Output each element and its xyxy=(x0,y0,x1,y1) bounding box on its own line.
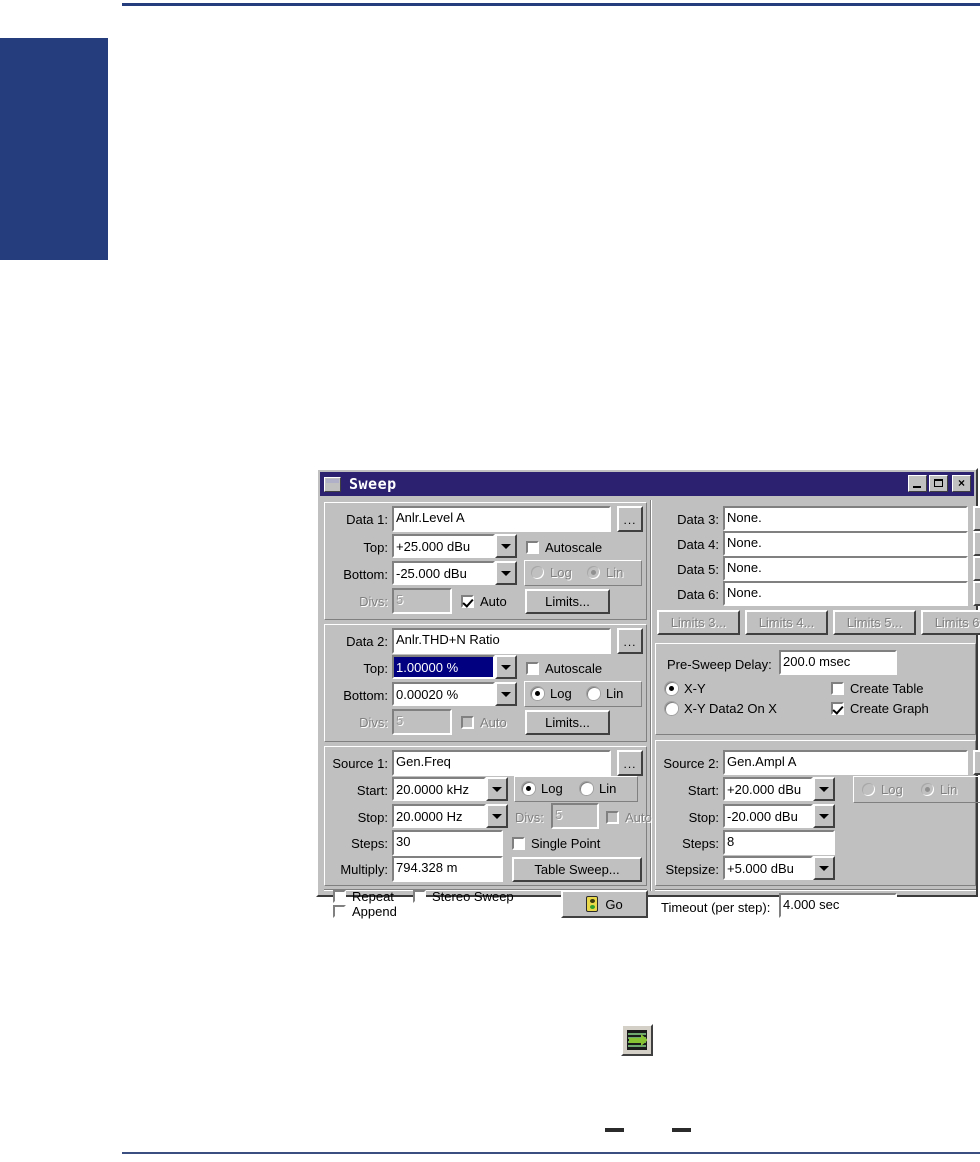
data2-autoscale-label: Autoscale xyxy=(545,661,602,676)
data2-log-radio[interactable]: Log xyxy=(531,686,572,701)
data2-bottom-label: Bottom: xyxy=(326,689,388,703)
source2-stepsize-label: Stepsize: xyxy=(653,863,719,877)
checkbox-box xyxy=(413,890,426,903)
chevron-down-icon[interactable] xyxy=(813,777,835,801)
data5-label: Data 5: xyxy=(653,563,719,577)
data3-input[interactable]: None. xyxy=(723,506,968,531)
page-mark-dash-1 xyxy=(605,1128,624,1132)
page-bottom-rule xyxy=(122,1152,980,1154)
create-table-checkbox[interactable]: Create Table xyxy=(831,681,923,696)
data1-top-value[interactable]: +25.000 dBu xyxy=(392,534,495,558)
pre-sweep-delay-input[interactable]: 200.0 msec xyxy=(779,650,897,675)
dialog-title: Sweep xyxy=(349,475,397,493)
data2-lin-label: Lin xyxy=(606,686,623,701)
data2-label: Data 2: xyxy=(330,635,388,649)
data2-top-label: Top: xyxy=(330,662,388,676)
data2-divs-label: Divs: xyxy=(336,716,388,730)
append-checkbox[interactable]: Append xyxy=(333,904,397,919)
data2-browse-button[interactable]: ... xyxy=(617,628,643,654)
data4-label: Data 4: xyxy=(653,538,719,552)
source1-log-label: Log xyxy=(541,781,563,796)
stereo-sweep-checkbox[interactable]: Stereo Sweep xyxy=(413,889,514,904)
traffic-light-icon xyxy=(586,896,598,912)
radio-dot xyxy=(587,566,600,579)
dialog-titlebar[interactable]: Sweep × xyxy=(320,472,974,496)
data2-top-combo[interactable]: 1.00000 % xyxy=(392,655,517,679)
limits6-button: Limits 6... xyxy=(921,610,980,635)
minimize-icon xyxy=(913,486,921,488)
radio-dot xyxy=(587,687,600,700)
data1-autoscale-checkbox[interactable]: Autoscale xyxy=(526,540,602,555)
data1-divs-label: Divs: xyxy=(336,595,388,609)
chevron-down-icon[interactable] xyxy=(495,561,517,585)
source1-multiply-input[interactable]: 794.328 m xyxy=(392,856,503,882)
data2-bottom-combo[interactable]: 0.00020 % xyxy=(392,682,517,706)
sweep-dialog: Sweep × Data 1: Anlr.Level A ... Top: +2… xyxy=(316,468,978,897)
panel-divider xyxy=(650,500,652,891)
radio-dot xyxy=(665,682,678,695)
source2-lin-label: Lin xyxy=(940,782,957,797)
source1-start-label: Start: xyxy=(328,784,388,798)
close-icon: × xyxy=(953,476,970,490)
data2-top-value[interactable]: 1.00000 % xyxy=(392,655,495,679)
data6-browse-button[interactable]: ... xyxy=(973,581,980,606)
radio-dot xyxy=(921,783,934,796)
source2-start-value[interactable]: +20.000 dBu xyxy=(723,777,813,801)
data1-browse-button[interactable]: ... xyxy=(617,506,643,532)
chevron-down-icon[interactable] xyxy=(495,682,517,706)
data2-input[interactable]: Anlr.THD+N Ratio xyxy=(392,628,611,654)
radio-dot xyxy=(522,782,535,795)
limits5-button: Limits 5... xyxy=(833,610,916,635)
source1-start-combo[interactable]: 20.0000 kHz xyxy=(392,777,508,801)
page-accent-block xyxy=(0,38,108,260)
data4-browse-button[interactable]: ... xyxy=(973,531,980,556)
source2-stepsize-value[interactable]: +5.000 dBu xyxy=(723,856,813,880)
page-marks xyxy=(0,1124,980,1138)
data1-limits-button[interactable]: Limits... xyxy=(525,589,610,614)
chevron-down-icon[interactable] xyxy=(486,777,508,801)
checkbox-box xyxy=(831,702,844,715)
data2-autoscale-checkbox[interactable]: Autoscale xyxy=(526,661,602,676)
checkbox-box xyxy=(526,662,539,675)
checkbox-box xyxy=(333,905,346,918)
close-button[interactable]: × xyxy=(952,475,971,492)
data1-label: Data 1: xyxy=(330,513,388,527)
data1-log-label: Log xyxy=(550,565,572,580)
data1-auto-label: Auto xyxy=(480,594,507,609)
data2-auto-label: Auto xyxy=(480,715,507,730)
minimize-button[interactable] xyxy=(908,475,927,492)
source2-start-combo[interactable]: +20.000 dBu xyxy=(723,777,835,801)
source2-input[interactable]: Gen.Ampl A xyxy=(723,750,968,775)
radio-dot xyxy=(531,687,544,700)
radio-dot xyxy=(531,566,544,579)
data1-top-combo[interactable]: +25.000 dBu xyxy=(392,534,517,558)
radio-dot xyxy=(580,782,593,795)
right-panel: Data 3: None. ... Data 4: None. ... Data… xyxy=(653,500,972,891)
create-graph-label: Create Graph xyxy=(850,701,929,716)
data2-bottom-value[interactable]: 0.00020 % xyxy=(392,682,495,706)
green-arrow-icon xyxy=(629,1038,642,1043)
source2-log-label: Log xyxy=(881,782,903,797)
source2-stop-value[interactable]: -20.000 dBu xyxy=(723,804,813,828)
data1-autoscale-label: Autoscale xyxy=(545,540,602,555)
source2-browse-button[interactable]: ... xyxy=(973,750,980,775)
source2-stop-combo[interactable]: -20.000 dBu xyxy=(723,804,835,828)
source1-log-radio[interactable]: Log xyxy=(522,781,563,796)
limits3-button: Limits 3... xyxy=(657,610,740,635)
source1-stop-value[interactable]: 20.0000 Hz xyxy=(392,804,486,828)
radio-dot xyxy=(665,702,678,715)
source2-stop-label: Stop: xyxy=(653,811,719,825)
data2-limits-button[interactable]: Limits... xyxy=(525,710,610,735)
xy-label: X-Y xyxy=(684,681,706,696)
window-system-icon[interactable] xyxy=(324,477,341,492)
data2-auto-checkbox: Auto xyxy=(461,715,507,730)
go-button-content: Go xyxy=(586,896,622,912)
data3-label: Data 3: xyxy=(653,513,719,527)
source1-start-value[interactable]: 20.0000 kHz xyxy=(392,777,486,801)
stereo-sweep-label: Stereo Sweep xyxy=(432,889,514,904)
window-controls: × xyxy=(908,475,971,492)
data1-lin-radio[interactable]: Lin xyxy=(587,565,623,580)
source2-start-label: Start: xyxy=(653,784,719,798)
checkbox-box xyxy=(512,837,525,850)
source2-steps-input[interactable]: 8 xyxy=(723,830,835,855)
page-canvas: Sweep × Data 1: Anlr.Level A ... Top: +2… xyxy=(0,0,980,1162)
append-label: Append xyxy=(352,904,397,919)
data6-label: Data 6: xyxy=(653,588,719,602)
data2-lin-radio[interactable]: Lin xyxy=(587,686,623,701)
light-green xyxy=(590,905,595,909)
timeout-label: Timeout (per step): xyxy=(661,901,770,915)
data1-lin-label: Lin xyxy=(606,565,623,580)
source1-stop-combo[interactable]: 20.0000 Hz xyxy=(392,804,508,828)
source1-divs-label: Divs: xyxy=(515,811,544,825)
source1-steps-input[interactable]: 30 xyxy=(392,830,503,856)
source1-multiply-label: Multiply: xyxy=(322,863,388,877)
go-button-label: Go xyxy=(605,897,622,912)
source1-lin-radio[interactable]: Lin xyxy=(580,781,616,796)
source1-stop-label: Stop: xyxy=(328,811,388,825)
source1-steps-label: Steps: xyxy=(328,837,388,851)
source1-single-point-label: Single Point xyxy=(531,836,600,851)
chevron-down-icon[interactable] xyxy=(813,804,835,828)
right-bottom-separator xyxy=(655,889,976,891)
data1-auto-checkbox[interactable]: Auto xyxy=(461,594,507,609)
checkbox-box xyxy=(831,682,844,695)
page-mark-dash-2 xyxy=(672,1128,691,1132)
repeat-label: Repeat xyxy=(352,889,394,904)
chevron-down-icon[interactable] xyxy=(486,804,508,828)
data1-bottom-combo[interactable]: -25.000 dBu xyxy=(392,561,517,585)
source1-label: Source 1: xyxy=(324,757,388,771)
source2-lin-radio: Lin xyxy=(921,782,957,797)
chevron-down-icon[interactable] xyxy=(495,534,517,558)
maximize-button[interactable] xyxy=(929,475,948,492)
icon-screen xyxy=(627,1030,647,1050)
data1-log-radio[interactable]: Log xyxy=(531,565,572,580)
radio-dot xyxy=(862,783,875,796)
data6-input[interactable]: None. xyxy=(723,581,968,606)
data5-browse-button[interactable]: ... xyxy=(973,556,980,581)
data2-log-label: Log xyxy=(550,686,572,701)
repeat-checkbox[interactable]: Repeat xyxy=(333,889,394,904)
chevron-down-icon[interactable] xyxy=(813,856,835,880)
chevron-down-icon[interactable] xyxy=(495,655,517,679)
source1-divs-input: 5 xyxy=(551,803,599,829)
source1-auto-checkbox: Auto xyxy=(606,810,652,825)
data1-bottom-label: Bottom: xyxy=(326,568,388,582)
limits4-button: Limits 4... xyxy=(745,610,828,635)
left-panel: Data 1: Anlr.Level A ... Top: +25.000 dB… xyxy=(322,500,649,891)
source1-auto-label: Auto xyxy=(625,810,652,825)
xy-data2-on-x-label: X-Y Data2 On X xyxy=(684,701,777,716)
go-button[interactable]: Go xyxy=(561,890,648,918)
data1-top-label: Top: xyxy=(330,541,388,555)
table-sweep-button[interactable]: Table Sweep... xyxy=(512,857,642,882)
create-graph-checkbox[interactable]: Create Graph xyxy=(831,701,929,716)
data3-browse-button[interactable]: ... xyxy=(973,506,980,531)
data1-divs-input: 5 xyxy=(392,588,452,614)
dialog-client: Data 1: Anlr.Level A ... Top: +25.000 dB… xyxy=(320,498,974,893)
maximize-icon xyxy=(934,479,943,487)
checkbox-box xyxy=(606,811,619,824)
data1-input[interactable]: Anlr.Level A xyxy=(392,506,611,532)
checkbox-box xyxy=(461,716,474,729)
source1-single-point-checkbox[interactable]: Single Point xyxy=(512,836,600,851)
data5-input[interactable]: None. xyxy=(723,556,968,581)
page-top-rule xyxy=(122,3,980,6)
source1-lin-label: Lin xyxy=(599,781,616,796)
source1-input[interactable]: Gen.Freq xyxy=(392,750,611,776)
data4-input[interactable]: None. xyxy=(723,531,968,556)
data1-bottom-value[interactable]: -25.000 dBu xyxy=(392,561,495,585)
checkbox-box xyxy=(333,890,346,903)
source2-label: Source 2: xyxy=(653,757,719,771)
sweep-toolbar-icon xyxy=(621,1024,653,1056)
source2-stepsize-combo[interactable]: +5.000 dBu xyxy=(723,856,835,880)
checkbox-box xyxy=(526,541,539,554)
data2-divs-input: 5 xyxy=(392,709,452,735)
source1-browse-button[interactable]: ... xyxy=(617,750,643,776)
timeout-input[interactable]: 4.000 sec xyxy=(779,893,897,918)
xy-radio[interactable]: X-Y xyxy=(665,681,706,696)
source2-steps-label: Steps: xyxy=(653,837,719,851)
pre-sweep-delay-label: Pre-Sweep Delay: xyxy=(667,658,772,672)
light-red xyxy=(590,899,595,903)
create-table-label: Create Table xyxy=(850,681,923,696)
source2-log-radio: Log xyxy=(862,782,903,797)
checkbox-box xyxy=(461,595,474,608)
xy-data2-on-x-radio[interactable]: X-Y Data2 On X xyxy=(665,701,777,716)
